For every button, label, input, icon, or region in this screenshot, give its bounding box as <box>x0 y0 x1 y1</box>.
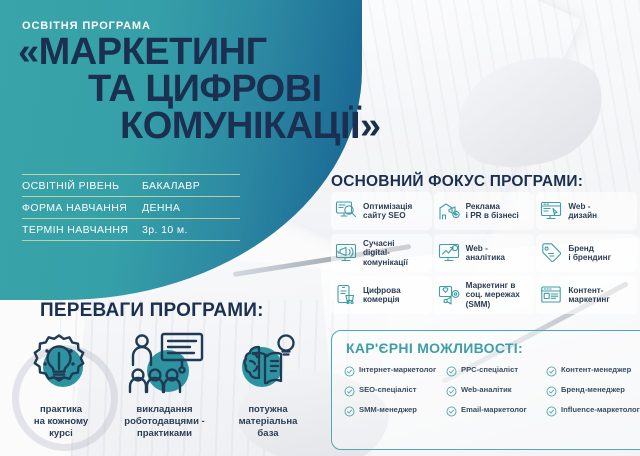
program-meta-table: ОСВІТНІЙ РІВЕНЬ БАКАЛАВР ФОРМА НАВЧАННЯ … <box>22 174 240 241</box>
brand-tag-icon <box>539 241 563 265</box>
focus-card-label: Цифровакомерція <box>363 286 401 304</box>
meta-row: ОСВІТНІЙ РІВЕНЬ БАКАЛАВР <box>22 174 240 197</box>
brain-book-icon <box>219 328 317 402</box>
page-title: «МАРКЕТИНГ ТА ЦИФРОВІ КОМУНІКАЦІЇ» <box>10 34 480 145</box>
career-item: Інтернет-маркетолог <box>344 364 446 375</box>
career-item-label: SEO-спеціаліст <box>359 385 416 394</box>
focus-card: Рекламаі PR в бізнесі <box>434 192 535 230</box>
benefit-item: практикана кожномукурсі <box>12 328 110 440</box>
career-item-label: Influence-маркетолог <box>561 405 640 414</box>
check-circle-icon <box>546 384 557 395</box>
check-circle-icon <box>344 404 355 415</box>
benefit-label: потужнаматеріальнабаза <box>219 404 317 440</box>
career-item: Web-аналітик <box>446 384 546 395</box>
focus-card-label: Маркетинг всоц. мережах(SMM) <box>466 281 520 309</box>
career-item-label: Контент-менеджер <box>561 365 631 374</box>
career-panel: КАР'ЄРНІ МОЖЛИВОСТІ: Інтернет-маркетолог… <box>331 330 640 450</box>
meta-row: ТЕРМІН НАВЧАННЯ 3р. 10 м. <box>22 219 240 241</box>
focus-card: Оптимізаціясайту SEO <box>331 192 432 230</box>
focus-card-label: Оптимізаціясайту SEO <box>363 202 412 220</box>
career-item-label: SMM-менеджер <box>359 405 417 414</box>
gear-lightbulb-icon <box>12 328 110 402</box>
career-item: Influence-маркетолог <box>546 404 640 415</box>
career-item-label: Web-аналітик <box>461 385 512 394</box>
focus-card-label: Контент-маркетинг <box>568 286 609 304</box>
benefit-item: потужнаматеріальнабаза <box>219 328 317 440</box>
focus-grid: Оптимізаціясайту SEOРекламаі PR в бізнес… <box>331 192 637 314</box>
focus-card-label: Web -дизайн <box>568 202 597 220</box>
social-media-icon <box>437 283 461 307</box>
focus-card-label: Бренді брендинг <box>568 244 611 262</box>
focus-card: Цифровакомерція <box>331 276 432 314</box>
lecturer-audience-icon <box>116 328 214 402</box>
meta-row: ФОРМА НАВЧАННЯ ДЕННА <box>22 197 240 219</box>
meta-value: БАКАЛАВР <box>142 180 200 192</box>
check-circle-icon <box>446 404 457 415</box>
career-item: SEO-спеціаліст <box>344 384 446 395</box>
focus-card-label: Сучасніdigital-комунікації <box>363 239 408 267</box>
poster-root: ОСВІТНЯ ПРОГРАМА «МАРКЕТИНГ ТА ЦИФРОВІ К… <box>0 0 640 456</box>
meta-value: 3р. 10 м. <box>142 224 188 236</box>
title-line-3: КОМУНІКАЦІЇ» <box>10 108 480 145</box>
focus-card: Бренді брендинг <box>536 234 637 272</box>
career-item-label: Email-маркетолог <box>461 405 527 414</box>
benefit-item: викладанняроботодавцями -практиками <box>116 328 214 440</box>
mobile-commerce-icon <box>334 283 358 307</box>
check-circle-icon <box>344 364 355 375</box>
benefits-heading: ПЕРЕВАГИ ПРОГРАМИ: <box>40 300 264 322</box>
title-line-1: «МАРКЕТИНГ <box>10 34 480 71</box>
focus-card: Маркетинг всоц. мережах(SMM) <box>434 276 535 314</box>
focus-card: Контент-маркетинг <box>536 276 637 314</box>
career-item: Email-маркетолог <box>446 404 546 415</box>
focus-card: Web -дизайн <box>536 192 637 230</box>
meta-key: ФОРМА НАВЧАННЯ <box>22 202 142 214</box>
focus-heading: ОСНОВНИЙ ФОКУС ПРОГРАМИ: <box>331 173 583 191</box>
career-heading: КАР'ЄРНІ МОЖЛИВОСТІ: <box>346 340 523 356</box>
check-circle-icon <box>546 364 557 375</box>
analytics-monitor-icon <box>437 241 461 265</box>
content-document-icon <box>539 283 563 307</box>
check-circle-icon <box>546 404 557 415</box>
focus-card-label: Web -аналітика <box>466 244 505 262</box>
meta-value: ДЕННА <box>142 202 180 214</box>
benefits-grid: практикана кожномукурсівикладанняроботод… <box>12 328 317 440</box>
career-item: Бренд-менеджер <box>546 384 640 395</box>
career-item-label: Бренд-менеджер <box>561 385 625 394</box>
career-item: Контент-менеджер <box>546 364 640 375</box>
career-grid: Інтернет-маркетологPPC-спеціалістКонтент… <box>344 364 640 415</box>
seo-monitor-icon <box>334 199 358 223</box>
focus-card: Web -аналітика <box>434 234 535 272</box>
check-circle-icon <box>344 384 355 395</box>
career-item-label: Інтернет-маркетолог <box>359 365 436 374</box>
digital-broadcast-icon <box>334 241 358 265</box>
check-circle-icon <box>446 384 457 395</box>
benefit-label: практикана кожномукурсі <box>12 404 110 440</box>
web-design-monitor-icon <box>539 199 563 223</box>
megaphone-chart-icon <box>437 199 461 223</box>
benefit-label: викладанняроботодавцями -практиками <box>116 404 214 440</box>
career-item-label: PPC-спеціаліст <box>461 365 518 374</box>
focus-card-label: Рекламаі PR в бізнесі <box>466 202 519 220</box>
career-item: PPC-спеціаліст <box>446 364 546 375</box>
title-line-2: ТА ЦИФРОВІ <box>10 71 480 108</box>
meta-key: ОСВІТНІЙ РІВЕНЬ <box>22 180 142 192</box>
focus-card: Сучасніdigital-комунікації <box>331 234 432 272</box>
check-circle-icon <box>446 364 457 375</box>
career-item: SMM-менеджер <box>344 404 446 415</box>
meta-key: ТЕРМІН НАВЧАННЯ <box>22 224 142 236</box>
